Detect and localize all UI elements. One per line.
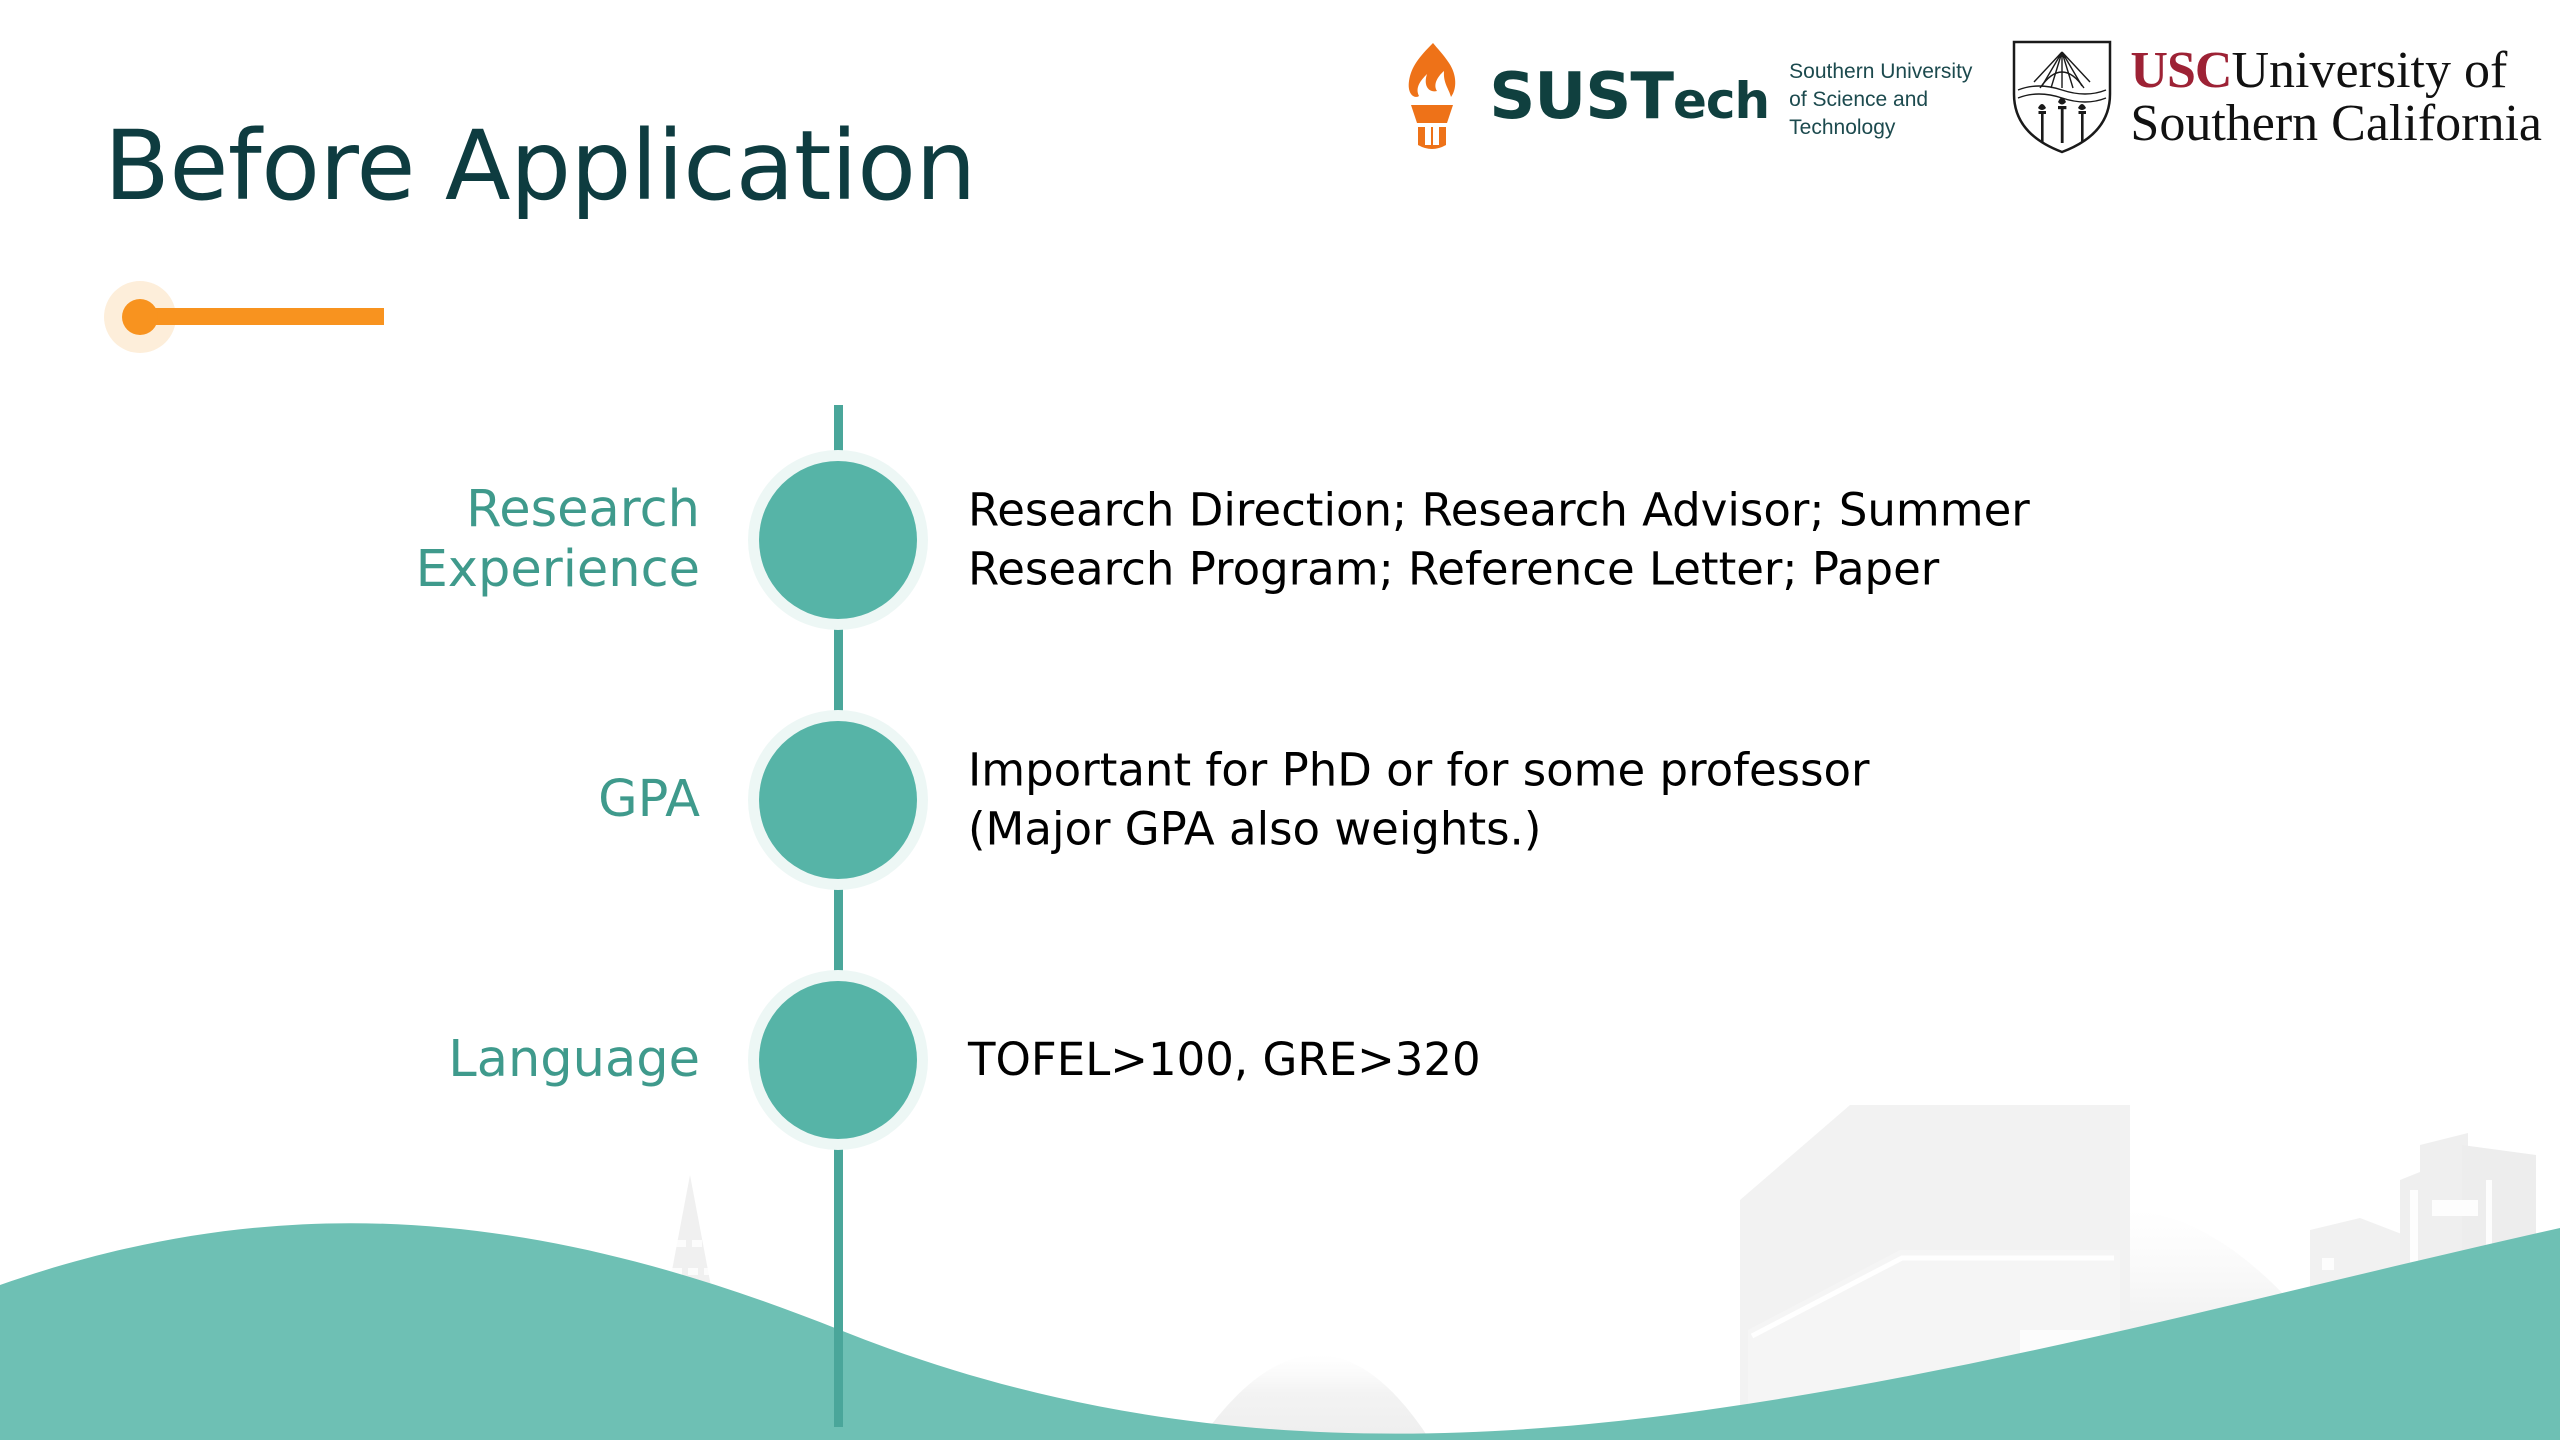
torch-flame-icon <box>1389 41 1475 153</box>
page-title: Before Application <box>104 118 976 214</box>
timeline-label-line1: Research <box>220 480 700 540</box>
accent-dot <box>122 299 158 335</box>
title-accent-underline <box>104 272 404 362</box>
timeline-description: TOFEL>100, GRE>320 <box>968 1031 2268 1090</box>
timeline-label-line1: GPA <box>220 770 700 830</box>
usc-shield-icon <box>2010 38 2114 156</box>
timeline-description: Research Direction; Research Advisor; Su… <box>968 482 2268 599</box>
sustech-subtitle-line1: Southern University <box>1789 58 1972 86</box>
usc-name-line1: University of <box>2231 42 2507 99</box>
timeline-node[interactable] <box>748 710 928 890</box>
usc-name-line2: Southern California <box>2130 97 2542 150</box>
usc-initials: USC <box>2130 42 2231 99</box>
timeline-description-line2: (Major GPA also weights.) <box>968 800 2268 859</box>
timeline-label: GPA <box>220 770 700 830</box>
sustech-wordmark-sust: SUST <box>1489 60 1673 134</box>
timeline-row[interactable]: Research Experience Research Direction; … <box>0 460 2560 620</box>
timeline-description-line1: TOFEL>100, GRE>320 <box>968 1031 2268 1090</box>
timeline-node-core <box>759 461 917 619</box>
timeline-label: Research Experience <box>220 480 700 600</box>
sustech-wordmark-ech: ech <box>1673 72 1769 130</box>
usc-wordmark: USCUniversity of Southern California <box>2130 44 2542 150</box>
timeline-label-line2: Experience <box>220 540 700 600</box>
sustech-logo: SUSTech Southern University of Science a… <box>1389 38 1972 156</box>
accent-bar <box>134 308 384 325</box>
logo-bar: SUSTech Southern University of Science a… <box>1389 38 2542 156</box>
timeline-label-line1: Language <box>220 1030 700 1090</box>
sustech-subtitle-line3: Technology <box>1789 114 1972 142</box>
timeline-description-line1: Research Direction; Research Advisor; Su… <box>968 482 2268 541</box>
timeline-row[interactable]: Language TOFEL>100, GRE>320 <box>0 980 2560 1140</box>
sustech-subtitle-line2: of Science and <box>1789 86 1972 114</box>
timeline-node-core <box>759 981 917 1139</box>
timeline-row[interactable]: GPA Important for PhD or for some profes… <box>0 720 2560 880</box>
usc-logo: USCUniversity of Southern California <box>2010 38 2542 156</box>
timeline-description-line1: Important for PhD or for some professor <box>968 742 2268 801</box>
timeline-node[interactable] <box>748 450 928 630</box>
timeline-node[interactable] <box>748 970 928 1150</box>
timeline-description: Important for PhD or for some professor … <box>968 742 2268 859</box>
timeline-node-core <box>759 721 917 879</box>
sustech-subtitle: Southern University of Science and Techn… <box>1789 58 1972 141</box>
sustech-wordmark: SUSTech <box>1489 65 1769 129</box>
timeline-label: Language <box>220 1030 700 1090</box>
timeline-description-line2: Research Program; Reference Letter; Pape… <box>968 540 2268 599</box>
